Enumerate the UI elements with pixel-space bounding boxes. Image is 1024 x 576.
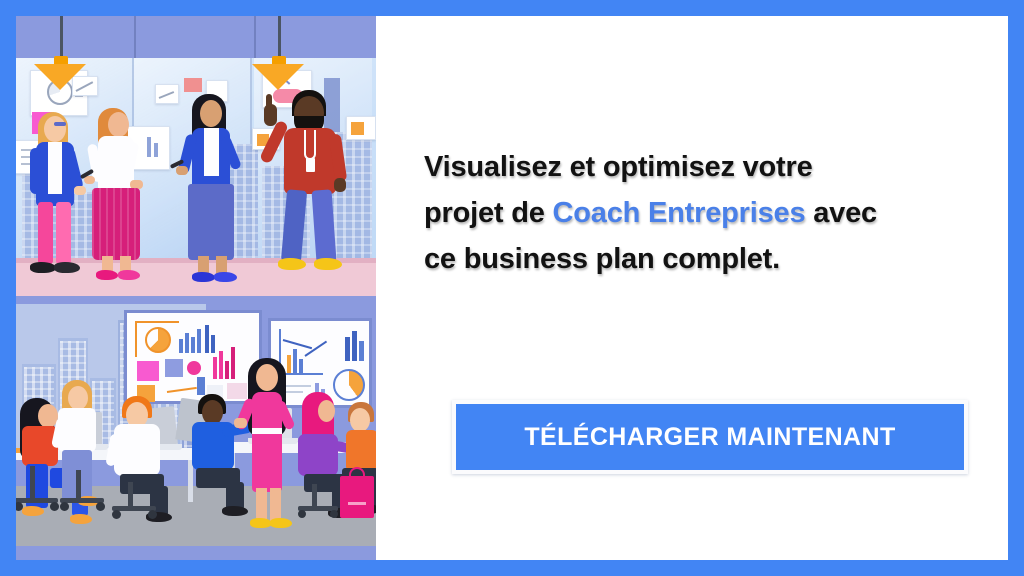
ceiling-seam bbox=[134, 16, 136, 58]
head bbox=[44, 116, 66, 142]
head bbox=[200, 100, 222, 127]
lamp-cap bbox=[272, 56, 286, 64]
headline-line-2-after: avec bbox=[805, 197, 877, 229]
shoe bbox=[30, 262, 56, 273]
standing-meeting-whiteboard-scene bbox=[16, 16, 376, 296]
bottom-band bbox=[16, 546, 376, 560]
hand bbox=[84, 176, 95, 184]
chair-post bbox=[76, 470, 81, 500]
arm bbox=[30, 148, 41, 194]
head bbox=[256, 364, 278, 391]
leg bbox=[56, 202, 71, 264]
leg bbox=[38, 202, 53, 264]
pie-chart-icon bbox=[145, 327, 171, 353]
shoe bbox=[314, 258, 342, 270]
shoe bbox=[270, 518, 292, 528]
ceiling-seam bbox=[254, 16, 256, 58]
shoe bbox=[250, 518, 272, 528]
shoe bbox=[214, 272, 237, 282]
promo-banner: Visualisez et optimisez votre projet de … bbox=[0, 0, 1024, 576]
headline-line-1: Visualisez et optimisez votre bbox=[424, 144, 980, 190]
head bbox=[318, 400, 335, 422]
business-team-office-illustration bbox=[16, 16, 376, 560]
shirt bbox=[48, 142, 62, 194]
sticky-note bbox=[184, 78, 202, 92]
person-doodle bbox=[197, 377, 205, 395]
lamp-cord bbox=[278, 16, 281, 60]
download-now-button[interactable]: TÉLÉCHARGER MAINTENANT bbox=[456, 404, 964, 470]
bag-handle bbox=[349, 467, 365, 478]
chair-wheel bbox=[50, 502, 59, 511]
lanyard-strap bbox=[304, 130, 316, 160]
city-tower-spire bbox=[324, 78, 340, 132]
glasses-icon bbox=[54, 122, 66, 126]
leg bbox=[256, 488, 267, 522]
chair-post bbox=[128, 482, 133, 508]
lamp-cord bbox=[60, 16, 63, 60]
bag-label bbox=[348, 502, 366, 505]
content-panel: Visualisez et optimisez votre projet de … bbox=[376, 16, 1008, 560]
headline-line-2-before: projet de bbox=[424, 197, 553, 229]
shoe bbox=[54, 262, 80, 273]
hand bbox=[234, 418, 247, 428]
headline-line-2: projet de Coach Entreprises avec bbox=[424, 190, 980, 236]
desk-workshop-charts-scene bbox=[16, 296, 376, 560]
shoe bbox=[96, 270, 118, 280]
head bbox=[108, 112, 129, 137]
badge bbox=[306, 158, 315, 172]
brand-accent-text: Coach Entreprises bbox=[553, 197, 806, 229]
chair-post bbox=[312, 484, 317, 508]
leg bbox=[270, 488, 281, 522]
page-title: Visualisez et optimisez votre projet de … bbox=[424, 144, 980, 282]
chair-wheel bbox=[330, 510, 338, 518]
hand bbox=[74, 186, 86, 195]
chair-wheel bbox=[112, 510, 121, 519]
belt bbox=[252, 428, 282, 434]
shoe bbox=[22, 506, 44, 516]
shoe bbox=[192, 272, 215, 282]
head bbox=[68, 386, 88, 410]
shoe bbox=[118, 270, 140, 280]
poster-note bbox=[346, 116, 376, 140]
pink-shopping-bag bbox=[340, 476, 374, 518]
banner-canvas: Visualisez et optimisez votre projet de … bbox=[16, 16, 1008, 560]
pointing-finger bbox=[266, 94, 272, 108]
chair-wheel bbox=[298, 510, 306, 518]
shirt bbox=[204, 128, 219, 176]
pendant-lamp-icon bbox=[252, 64, 304, 90]
pendant-lamp-icon bbox=[34, 64, 86, 90]
shoe bbox=[278, 258, 306, 270]
poster-chart bbox=[155, 84, 179, 104]
headline-line-3: ce business plan complet. bbox=[424, 236, 980, 282]
shirt bbox=[346, 430, 376, 472]
chair-wheel bbox=[148, 510, 157, 519]
cta-frame: TÉLÉCHARGER MAINTENANT bbox=[452, 400, 968, 474]
hand bbox=[176, 166, 188, 175]
pie-chart-icon bbox=[333, 369, 365, 401]
whiteboard-bar-chart bbox=[124, 310, 262, 404]
head bbox=[350, 408, 370, 432]
ceiling-band bbox=[16, 16, 376, 58]
shirt bbox=[114, 424, 160, 476]
shoe bbox=[70, 514, 92, 524]
lamp-cap bbox=[54, 56, 68, 64]
chair-wheel bbox=[60, 502, 69, 511]
pleated-skirt bbox=[92, 188, 140, 260]
chair-post bbox=[30, 466, 35, 500]
hand bbox=[334, 178, 346, 192]
chair-wheel bbox=[96, 502, 105, 511]
shoe bbox=[222, 506, 248, 516]
pencil-skirt bbox=[188, 184, 234, 260]
